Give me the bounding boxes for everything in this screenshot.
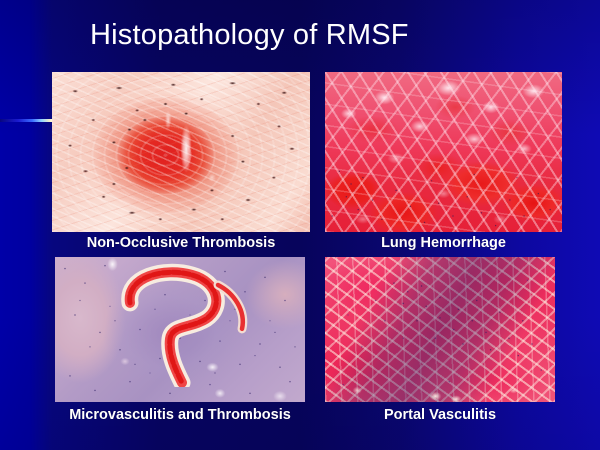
caption-non-occlusive-thrombosis: Non-Occlusive Thrombosis (52, 234, 310, 252)
accent-divider-line (0, 119, 52, 122)
caption-lung-hemorrhage: Lung Hemorrhage (325, 234, 562, 252)
cell-nuclei-layer (325, 72, 562, 232)
micrograph-non-occlusive-thrombosis[interactable] (52, 72, 310, 232)
caption-microvasculitis-and-thrombosis: Microvasculitis and Thrombosis (38, 406, 322, 424)
page-title: Histopathology of RMSF (90, 17, 409, 53)
slide-canvas: Histopathology of RMSF Non-Occlusive Thr… (0, 0, 600, 450)
micrograph-lung-hemorrhage[interactable] (325, 72, 562, 232)
micrograph-portal-vasculitis[interactable] (325, 257, 555, 402)
tissue-vacuole-layer (325, 257, 555, 402)
tissue-vacuole-layer (55, 257, 305, 402)
cell-nuclei-layer (52, 72, 310, 232)
caption-portal-vasculitis: Portal Vasculitis (325, 406, 555, 424)
micrograph-microvasculitis-and-thrombosis[interactable] (55, 257, 305, 402)
